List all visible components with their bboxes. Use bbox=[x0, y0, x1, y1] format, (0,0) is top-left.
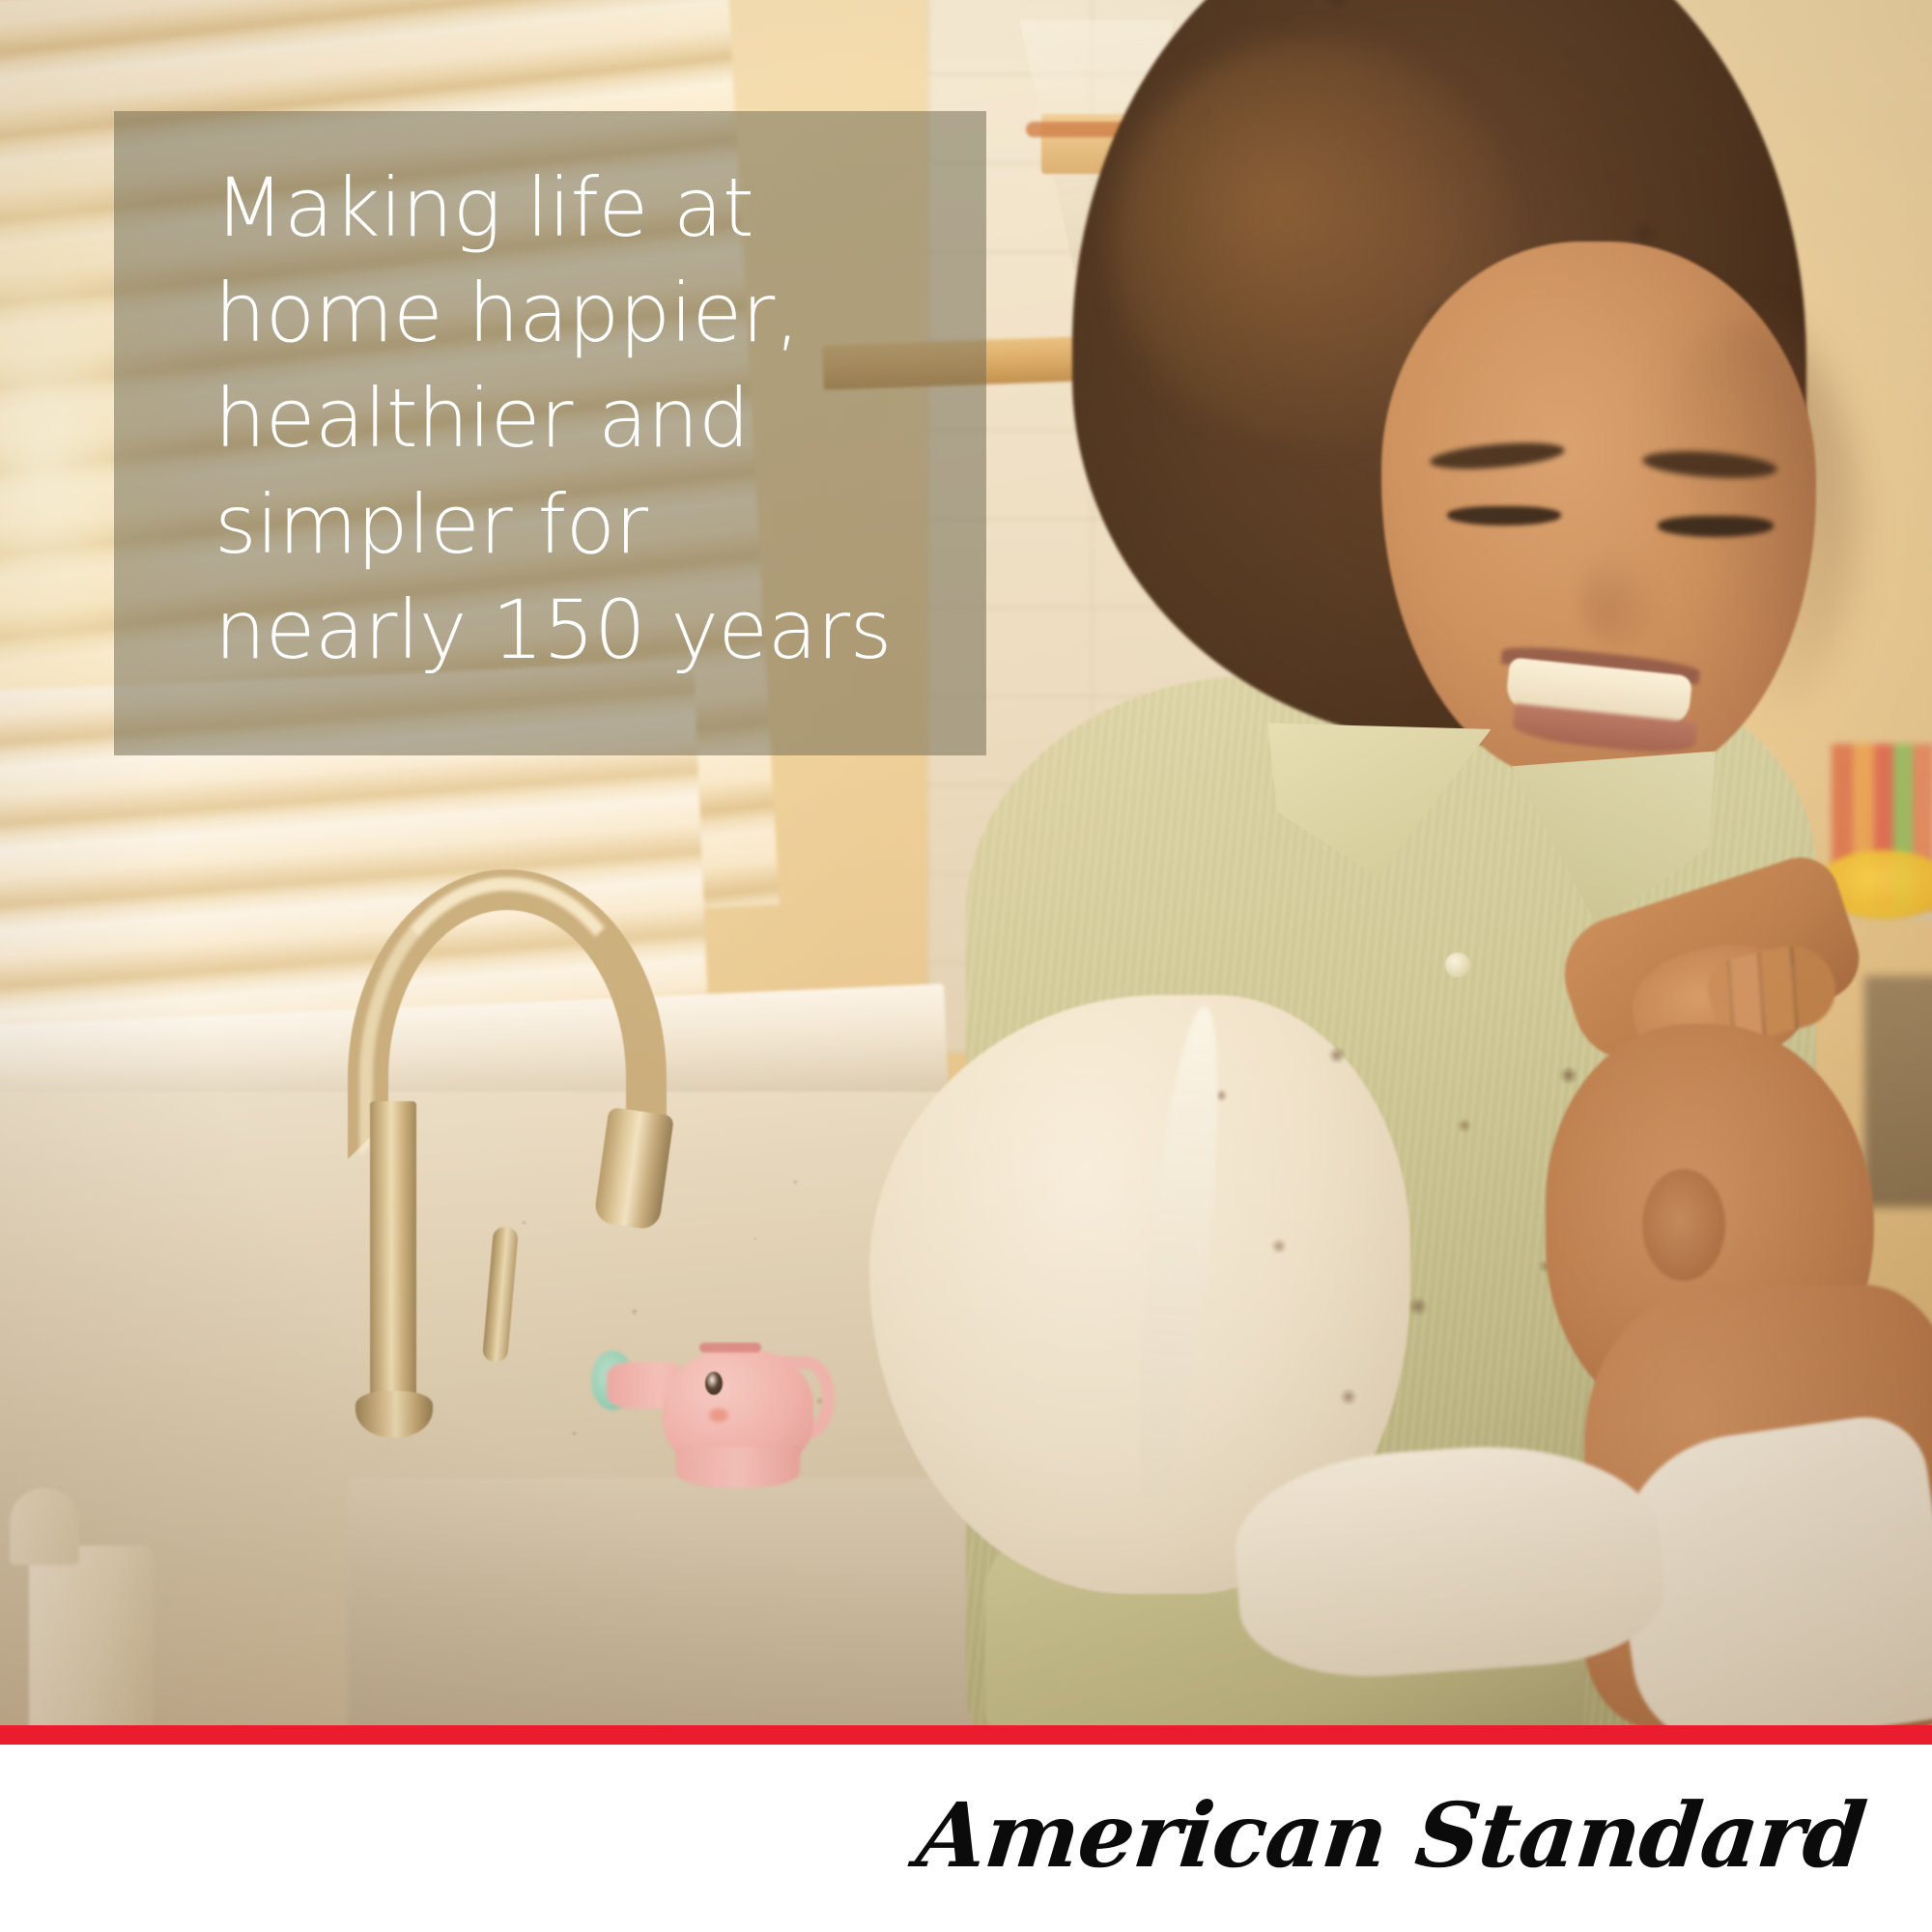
footer-bar: American Standard bbox=[0, 1745, 1932, 1932]
elephant-toy-legs bbox=[676, 1447, 800, 1488]
elephant-toy-slot bbox=[699, 1343, 761, 1352]
faucet-column bbox=[370, 1101, 416, 1420]
woman-nose bbox=[1578, 551, 1662, 647]
shirt-button bbox=[1445, 952, 1470, 978]
elephant-toy-cheek bbox=[709, 1408, 728, 1422]
american-standard-logo: American Standard bbox=[913, 1791, 1869, 1880]
soap-dispenser-pump bbox=[10, 1488, 79, 1565]
headline-overlay-panel: Making life at home happier, healthier a… bbox=[114, 111, 986, 755]
soap-dispenser-bottle bbox=[29, 1546, 155, 1725]
sink-basin bbox=[348, 1478, 1024, 1725]
brand-accent-rule bbox=[0, 1725, 1932, 1745]
baby-ear bbox=[1642, 1169, 1725, 1281]
woman-eye-left bbox=[1447, 506, 1561, 526]
headline-text: Making life at home happier, healthier a… bbox=[214, 156, 949, 683]
woman-eye-right bbox=[1658, 516, 1774, 537]
ad-canvas: Making life at home happier, healthier a… bbox=[0, 0, 1932, 1932]
background-dark-edge bbox=[1864, 976, 1932, 1207]
elephant-toy-eye bbox=[705, 1372, 723, 1395]
